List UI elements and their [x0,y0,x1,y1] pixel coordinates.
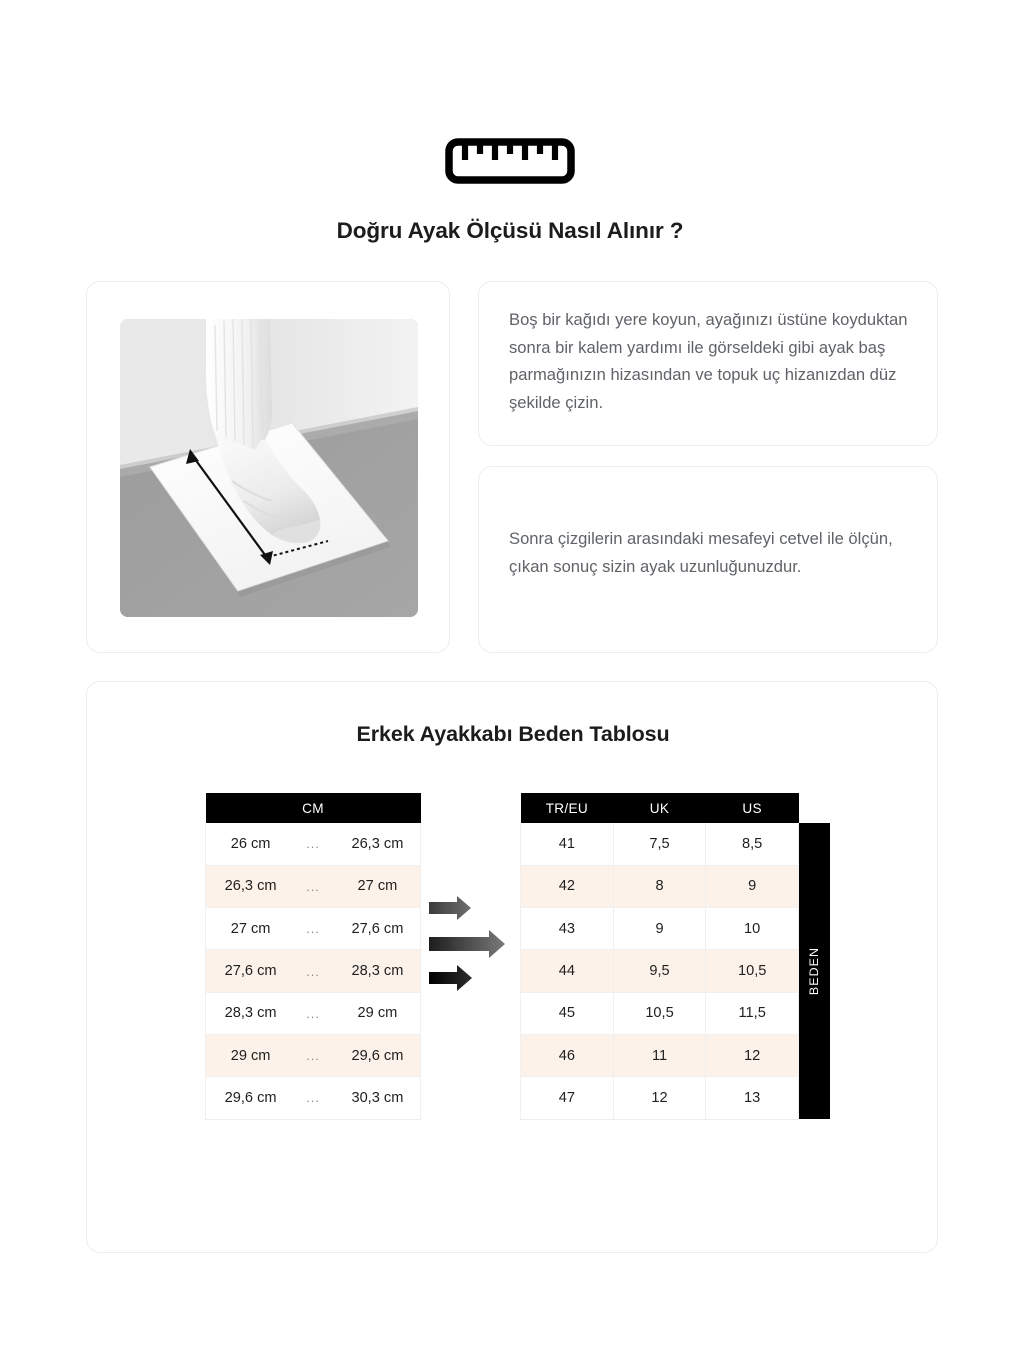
cm-to: 27 cm [335,865,421,907]
cm-separator: ... [291,950,335,992]
instruction-text-1: Boş bir kağıdı yere koyun, ayağınızı üst… [509,306,909,416]
size-us: 10 [706,908,799,950]
cm-table: CM 26 cm ... 26,3 cm 26,3 cm ... 27 cm [205,793,421,1120]
size-table-header-us: US [706,793,799,823]
cm-from: 27,6 cm [206,950,292,992]
cm-table-body: 26 cm ... 26,3 cm 26,3 cm ... 27 cm 27 c… [206,823,421,1119]
table-row: 42 8 9 [521,865,799,907]
size-guide-page: Doğru Ayak Ölçüsü Nasıl Alınır ? [0,0,1020,1360]
foot-measure-photo [120,319,418,617]
table-row: 29 cm ... 29,6 cm [206,1034,421,1076]
cm-separator: ... [291,1077,335,1119]
illustration-card [86,281,450,653]
size-table-header-uk: UK [613,793,706,823]
size-us: 8,5 [706,823,799,865]
cm-to: 29 cm [335,992,421,1034]
foot-measure-illustration [120,319,418,617]
table-row: 47 12 13 [521,1077,799,1119]
cm-to: 27,6 cm [335,908,421,950]
table-row: 26 cm ... 26,3 cm [206,823,421,865]
size-uk: 10,5 [613,992,706,1034]
table-row: 28,3 cm ... 29 cm [206,992,421,1034]
size-treu: 42 [521,865,614,907]
size-uk: 12 [613,1077,706,1119]
table-row: 43 9 10 [521,908,799,950]
cm-to: 26,3 cm [335,823,421,865]
size-treu: 47 [521,1077,614,1119]
size-table-header-treu: TR/EU [521,793,614,823]
beden-side-label-text: BEDEN [808,947,822,995]
size-chart-card: Erkek Ayakkabı Beden Tablosu CM 26 cm ..… [86,681,938,1253]
size-treu: 45 [521,992,614,1034]
size-us: 9 [706,865,799,907]
triple-right-arrow-icon [427,894,521,998]
size-us: 13 [706,1077,799,1119]
beden-side-label: BEDEN [799,823,830,1119]
cm-from: 29 cm [206,1034,292,1076]
cm-separator: ... [291,1034,335,1076]
size-uk: 7,5 [613,823,706,865]
cm-separator: ... [291,823,335,865]
size-treu: 41 [521,823,614,865]
size-treu: 43 [521,908,614,950]
cm-from: 26,3 cm [206,865,292,907]
cm-separator: ... [291,992,335,1034]
page-title: Doğru Ayak Ölçüsü Nasıl Alınır ? [0,218,1020,244]
table-row: 27,6 cm ... 28,3 cm [206,950,421,992]
table-row: 27 cm ... 27,6 cm [206,908,421,950]
instruction-text-2: Sonra çizgilerin arasındaki mesafeyi cet… [509,525,909,580]
cm-from: 29,6 cm [206,1077,292,1119]
cm-to: 28,3 cm [335,950,421,992]
size-uk: 11 [613,1034,706,1076]
size-uk: 8 [613,865,706,907]
cm-table-header: CM [206,793,421,823]
cm-separator: ... [291,908,335,950]
cm-separator: ... [291,865,335,907]
instruction-card-2: Sonra çizgilerin arasındaki mesafeyi cet… [478,466,938,653]
ruler-icon [445,138,575,184]
instruction-card-1: Boş bir kağıdı yere koyun, ayağınızı üst… [478,281,938,446]
table-row: 41 7,5 8,5 [521,823,799,865]
table-row: 26,3 cm ... 27 cm [206,865,421,907]
size-treu: 44 [521,950,614,992]
size-chart-tables: CM 26 cm ... 26,3 cm 26,3 cm ... 27 cm [87,682,939,1254]
cm-from: 28,3 cm [206,992,292,1034]
size-treu: 46 [521,1034,614,1076]
cm-to: 29,6 cm [335,1034,421,1076]
table-row: 46 11 12 [521,1034,799,1076]
size-us: 10,5 [706,950,799,992]
size-table-header-row: TR/EU UK US [521,793,799,823]
size-us: 12 [706,1034,799,1076]
table-row: 29,6 cm ... 30,3 cm [206,1077,421,1119]
cm-from: 26 cm [206,823,292,865]
size-uk: 9 [613,908,706,950]
cm-from: 27 cm [206,908,292,950]
cm-table-header-row: CM [206,793,421,823]
size-us: 11,5 [706,992,799,1034]
cm-to: 30,3 cm [335,1077,421,1119]
table-row: 44 9,5 10,5 [521,950,799,992]
ruler-icon-container [0,138,1020,184]
size-table-body: 41 7,5 8,5 42 8 9 43 9 10 [521,823,799,1119]
size-uk: 9,5 [613,950,706,992]
size-table: TR/EU UK US 41 7,5 8,5 42 8 9 [520,793,799,1120]
table-row: 45 10,5 11,5 [521,992,799,1034]
